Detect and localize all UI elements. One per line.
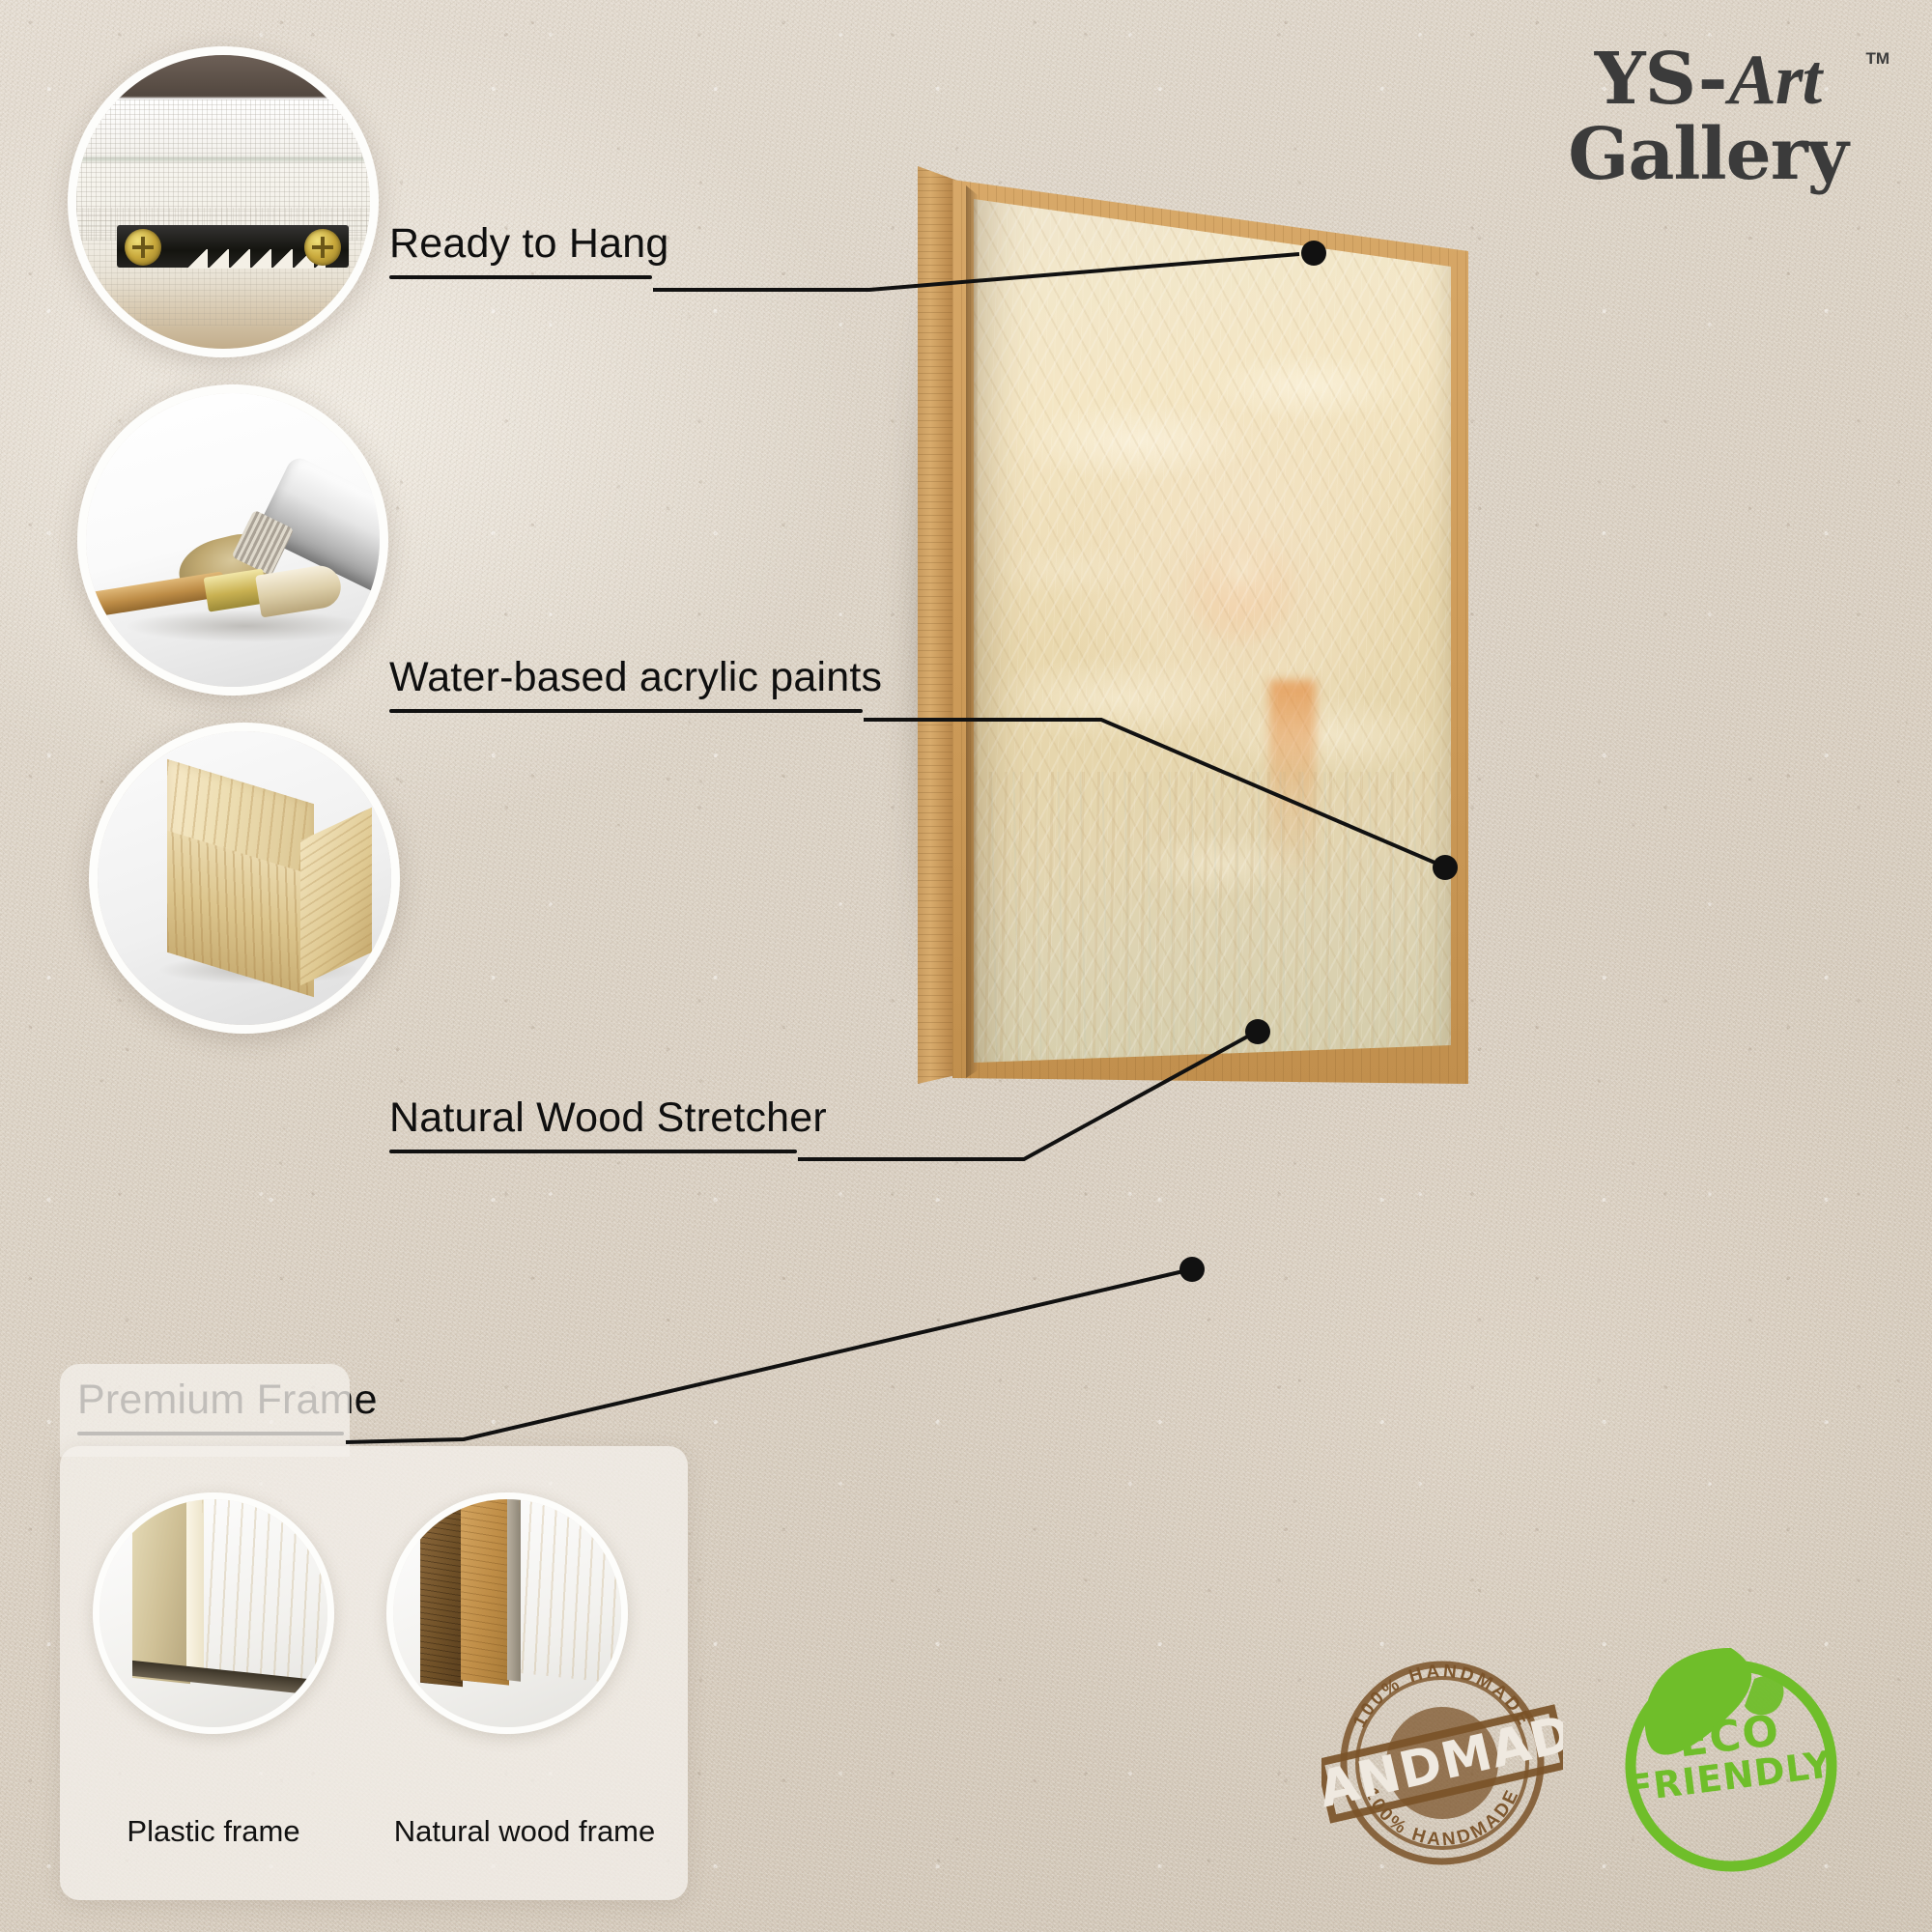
wood-frame-corner-icon	[386, 1492, 628, 1734]
screw-left-icon	[125, 229, 161, 266]
logo-ys-text: YS-	[1595, 38, 1727, 121]
wood-stretcher-bar-icon	[89, 723, 400, 1034]
trademark-icon: TM	[1865, 49, 1889, 69]
feature-label-text: Water-based acrylic paints	[389, 654, 882, 700]
feature-label-ready-to-hang: Ready to Hang	[389, 220, 668, 279]
framed-painting	[918, 166, 1468, 1084]
logo-art-text: Art	[1728, 41, 1821, 120]
handmade-stamp-badge: 100% HANDMADE 100% HANDMADE HANDMADE	[1321, 1642, 1563, 1884]
eco-friendly-badge: ECO FRIENDLY	[1609, 1642, 1853, 1886]
brand-logo: YS-Art Gallery TM	[1534, 43, 1882, 193]
frame-option-caption-wood: Natural wood frame	[348, 1814, 701, 1849]
feature-label-text: Ready to Hang	[389, 220, 668, 267]
paint-tube-brush-icon	[77, 384, 388, 696]
sawtooth-hanger-icon	[68, 46, 379, 357]
label-underline	[389, 1150, 797, 1153]
label-underline	[389, 709, 863, 713]
logo-line-2: Gallery	[1534, 118, 1882, 193]
painting-canvas	[974, 166, 1451, 1084]
label-underline	[389, 275, 652, 279]
frame-option-caption-plastic: Plastic frame	[54, 1814, 373, 1849]
screw-right-icon	[304, 229, 341, 266]
feature-label-acrylic-paints: Water-based acrylic paints	[389, 654, 882, 713]
feature-label-text: Natural Wood Stretcher	[389, 1094, 827, 1141]
frame-inner-reveal	[966, 166, 978, 1084]
plastic-frame-corner-icon	[93, 1492, 334, 1734]
feature-label-wood-stretcher: Natural Wood Stretcher	[389, 1094, 827, 1153]
logo-line-1: YS-Art	[1534, 43, 1882, 116]
premium-frame-tab	[60, 1364, 350, 1457]
